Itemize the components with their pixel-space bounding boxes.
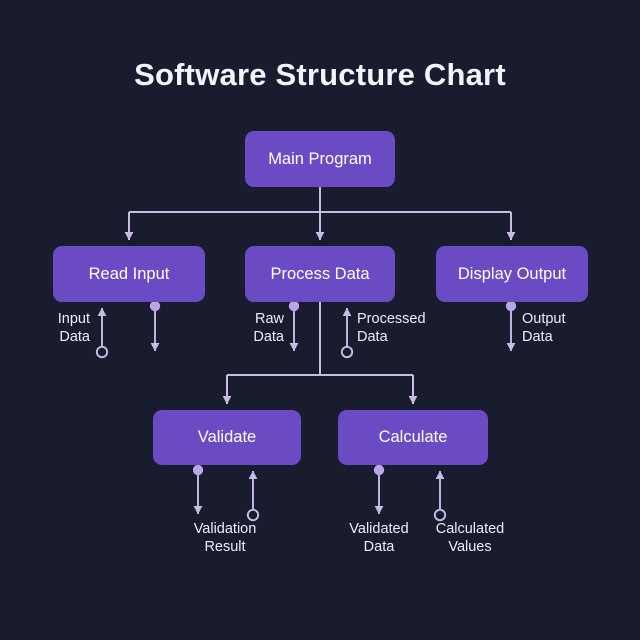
- couple-calculated-values-control-marker: [435, 510, 445, 520]
- label-output-data: Output Data: [522, 311, 604, 346]
- node-calculate-label: Calculate: [379, 428, 448, 446]
- label-raw-data: Raw Data: [214, 311, 284, 346]
- node-read-input-label: Read Input: [89, 265, 170, 283]
- structure-chart-canvas: Software Structure Chart: [0, 0, 640, 640]
- node-validate-label: Validate: [198, 428, 256, 446]
- node-display-output[interactable]: Display Output: [436, 246, 588, 302]
- node-validate[interactable]: Validate: [153, 410, 301, 465]
- label-validation-result: Validation Result: [170, 521, 280, 556]
- couple-validate-input-control-marker: [248, 510, 258, 520]
- couple-processed-data-control-marker: [342, 347, 352, 357]
- node-calculate[interactable]: Calculate: [338, 410, 488, 465]
- couple-validation-result-marker: [193, 465, 203, 475]
- label-processed-data: Processed Data: [357, 311, 453, 346]
- couple-raw-data-marker: [289, 301, 299, 311]
- label-validated-data: Validated Data: [330, 521, 428, 556]
- label-calculated-values: Calculated Values: [418, 521, 522, 556]
- label-input-data: Input Data: [18, 311, 90, 346]
- node-process-data[interactable]: Process Data: [245, 246, 395, 302]
- node-read-input[interactable]: Read Input: [53, 246, 205, 302]
- node-main-program-label: Main Program: [268, 150, 372, 168]
- couple-output-data-marker: [506, 301, 516, 311]
- node-process-data-label: Process Data: [270, 265, 369, 283]
- node-display-output-label: Display Output: [458, 265, 566, 283]
- node-main-program[interactable]: Main Program: [245, 131, 395, 187]
- couple-validated-data-marker: [374, 465, 384, 475]
- couple-read-output-data-marker: [150, 301, 160, 311]
- couple-input-data-control-marker: [97, 347, 107, 357]
